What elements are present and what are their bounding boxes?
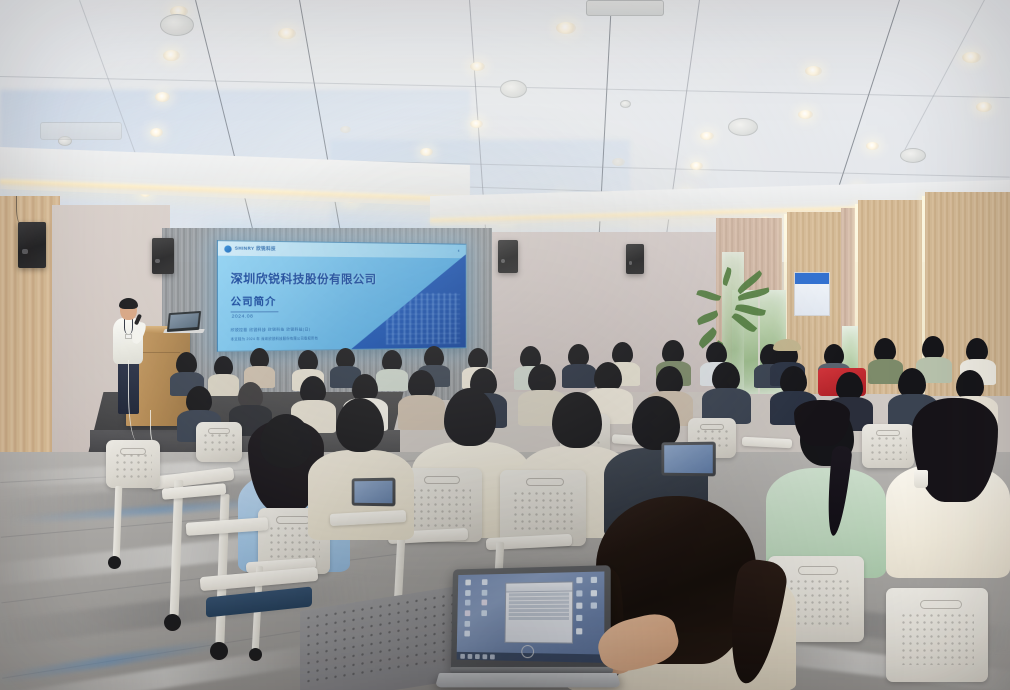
ceiling-downlight <box>798 110 813 119</box>
desktop-icon <box>576 577 582 583</box>
start-icon[interactable] <box>460 653 465 658</box>
desktop-icon <box>590 602 596 608</box>
chair-caster <box>210 642 228 660</box>
chair-caster <box>164 614 181 631</box>
slide-divider <box>231 311 279 312</box>
ceiling-downlight <box>470 62 485 71</box>
ceiling-downlight <box>612 158 625 166</box>
desktop-icon <box>590 590 596 596</box>
ceiling-air-vent <box>586 0 664 16</box>
window-row <box>509 597 569 601</box>
desktop-icon <box>481 600 487 606</box>
foreground-laptop[interactable] <box>437 567 619 690</box>
taskbar-icon[interactable] <box>482 654 487 659</box>
presenter-hair <box>119 298 138 309</box>
cap-icon <box>773 339 801 351</box>
ceiling-downlight <box>962 52 981 63</box>
secondary-laptop-screen <box>354 481 392 504</box>
ceiling-downlight <box>150 128 163 137</box>
desktop-icon <box>590 577 596 583</box>
ceiling-downlight <box>155 92 170 102</box>
taskbar-icon[interactable] <box>468 654 473 659</box>
wall-speaker-stage-left <box>152 238 174 274</box>
slide-header-glyph: ◖ <box>457 248 460 254</box>
microphone-cable <box>128 360 144 442</box>
window-row <box>509 617 569 620</box>
window-row <box>509 613 569 616</box>
ceiling-downlight <box>163 50 180 61</box>
hp-logo-icon <box>521 645 534 658</box>
ceiling-downlight <box>866 142 879 150</box>
conference-room-photo: SHINRY 欣锐科技 ◖ 深圳欣锐科技股份有限公司 公司简介 2024.08 … <box>0 0 1010 690</box>
podium-laptop <box>167 311 201 332</box>
desktop-icon <box>481 579 487 585</box>
desktop-icon <box>576 590 582 596</box>
ceiling-downlight <box>556 22 576 34</box>
open-application-window[interactable] <box>504 581 573 644</box>
window-titlebar[interactable] <box>506 582 572 593</box>
ceiling-speaker-icon <box>160 14 194 36</box>
projection-screen: SHINRY 欣锐科技 ◖ 深圳欣锐科技股份有限公司 公司简介 2024.08 … <box>217 240 467 352</box>
slide-footnote-primary: 欣锐控股 欣锐科技 欣锐科技 欣锐科技(日) <box>231 327 311 333</box>
chair-caster <box>108 556 121 569</box>
ceiling-downlight <box>700 132 714 140</box>
desktop-icon <box>576 628 582 634</box>
water-cup <box>914 470 928 488</box>
tertiary-laptop-screen <box>664 445 713 474</box>
slide-title: 深圳欣锐科技股份有限公司 <box>231 270 377 287</box>
ceiling-speaker-icon <box>900 148 926 163</box>
laptop-keyboard-base[interactable] <box>435 673 621 687</box>
slide-accent-triangle <box>349 253 466 351</box>
chair-tablet-arm <box>742 437 792 449</box>
company-logo-text: SHINRY 欣锐科技 <box>235 246 276 253</box>
chair-handle <box>120 448 146 455</box>
wall-speaker-right <box>626 244 644 274</box>
slide-header-bar: SHINRY 欣锐科技 ◖ <box>218 241 466 258</box>
desktop-icon <box>465 580 471 586</box>
window-row <box>509 605 569 608</box>
hair <box>794 400 850 446</box>
wall-speaker-stage-right <box>498 240 518 273</box>
desktop-icon <box>465 590 471 596</box>
ceiling-downlight <box>340 126 351 133</box>
tertiary-laptop[interactable] <box>661 442 715 477</box>
ceiling-downlight <box>470 120 483 128</box>
laptop-lid <box>451 565 611 674</box>
taskbar-icon[interactable] <box>490 654 495 659</box>
ceiling-air-vent <box>40 122 122 140</box>
ceiling-downlight <box>976 102 992 112</box>
desktop-icon <box>464 610 470 616</box>
taskbar-icon[interactable] <box>475 654 480 659</box>
desktop-icon <box>464 620 470 626</box>
desktop-icon <box>576 602 582 608</box>
desktop-icon <box>576 615 582 621</box>
slide-date: 2024.08 <box>232 313 254 318</box>
wall-speaker-left <box>18 222 46 268</box>
ceiling-speaker-icon <box>728 118 758 136</box>
ceiling-sensor-icon <box>620 100 631 108</box>
window-row <box>509 609 569 612</box>
slide-product-image <box>386 293 460 344</box>
ceiling-downlight <box>420 148 433 156</box>
desktop-icon <box>464 631 470 637</box>
presenter-badge <box>125 334 132 339</box>
presenter-lanyard <box>124 318 133 334</box>
wall-sign-header <box>795 273 829 284</box>
company-logo-icon <box>224 245 231 252</box>
ceiling-downlight <box>278 28 296 39</box>
desktop-icon <box>481 590 487 596</box>
slide-subtitle: 公司简介 <box>231 293 277 308</box>
ceiling-downlight <box>805 66 822 76</box>
wall-sign-body <box>795 284 829 315</box>
desktop-icon <box>464 600 470 606</box>
slide-footnote-secondary: 本文档为 2024 年 深圳欣锐科技股份有限公司版权所有 <box>231 335 319 341</box>
desktop-icon <box>481 610 487 616</box>
secondary-laptop[interactable] <box>352 478 396 507</box>
ceiling-downlight <box>690 162 703 170</box>
ceiling-speaker-icon <box>500 80 527 98</box>
wall-sign <box>794 272 830 316</box>
window-row <box>509 601 569 605</box>
speaker-cable <box>16 196 26 226</box>
